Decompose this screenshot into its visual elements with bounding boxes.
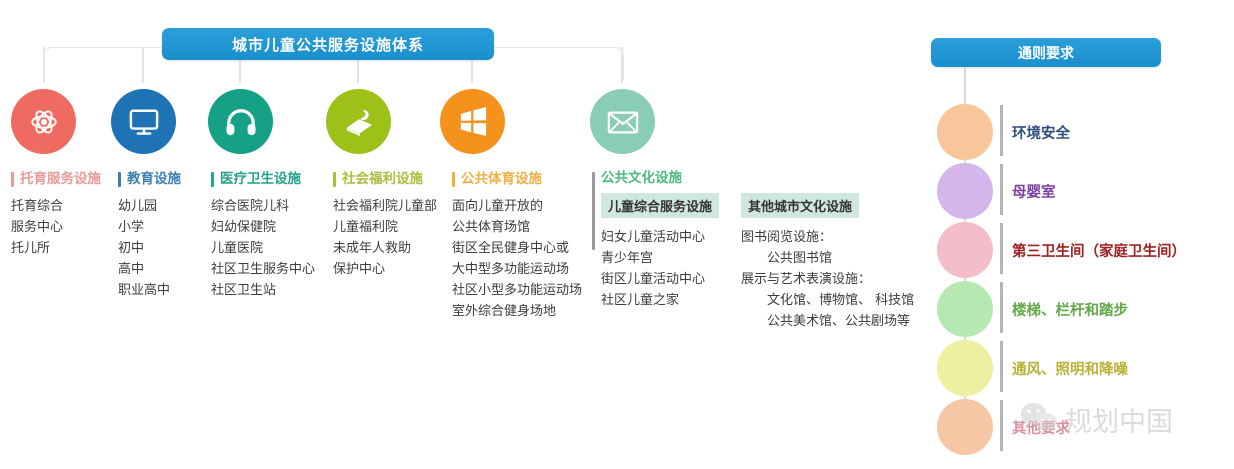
general-requirements-panel: 通则要求 环境安全 母婴室 第三卫生间（家庭卫生间） 楼梯、栏杆和踏步 通风、照… xyxy=(0,0,1234,469)
requirement-dot-other[interactable] xyxy=(937,399,993,455)
requirement-label-nursing-room: 母婴室 xyxy=(1012,181,1056,202)
requirement-dot-ventilation-lighting[interactable] xyxy=(937,340,993,396)
requirement-tick xyxy=(1000,282,1003,333)
requirement-dot-stairs-railings[interactable] xyxy=(937,281,993,337)
requirement-label-environment-safety: 环境安全 xyxy=(1012,122,1070,143)
requirement-label-stairs-railings: 楼梯、栏杆和踏步 xyxy=(1012,299,1128,320)
diagram-canvas: 城市儿童公共服务设施体系 xyxy=(0,0,1234,469)
requirement-tick xyxy=(1000,223,1003,274)
general-requirements-label: 通则要求 xyxy=(1018,43,1074,63)
requirement-tick xyxy=(1000,164,1003,215)
requirement-label-ventilation-lighting: 通风、照明和降噪 xyxy=(1012,358,1128,379)
requirement-dot-nursing-room[interactable] xyxy=(937,163,993,219)
requirement-tick xyxy=(1000,341,1003,392)
requirement-dot-third-restroom[interactable] xyxy=(937,222,993,278)
requirement-tick xyxy=(1000,400,1003,451)
general-requirements-pill: 通则要求 xyxy=(931,38,1161,67)
requirement-label-third-restroom: 第三卫生间（家庭卫生间） xyxy=(1012,240,1186,261)
requirement-label-other: 其他要求 xyxy=(1012,417,1070,438)
requirement-tick xyxy=(1000,105,1003,156)
requirement-dot-environment-safety[interactable] xyxy=(937,104,993,160)
